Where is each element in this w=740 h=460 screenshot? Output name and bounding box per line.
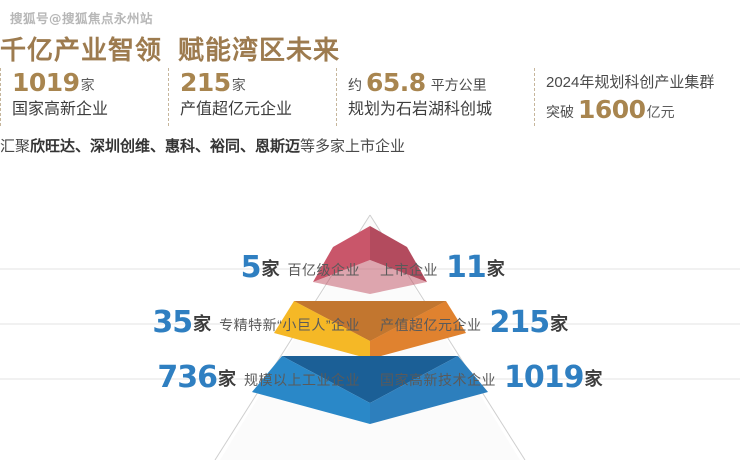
note-prefix: 汇聚 xyxy=(0,138,30,155)
stat-caption: 产值超亿元企业 xyxy=(180,101,292,118)
stat-value: 215 xyxy=(180,68,231,97)
tier2-left-unit: 家 xyxy=(193,314,211,334)
tier1-left-label: 百亿级企业 xyxy=(288,262,361,278)
stat-caption-post: 亿元 xyxy=(647,104,675,120)
page-title-part2: 赋能湾区未来 xyxy=(178,35,340,65)
stat-value: 65.8 xyxy=(366,68,426,97)
tier3-right-label: 国家高新技术企业 xyxy=(380,372,496,388)
tier3-left-label-group: 736家规模以上工业企业 xyxy=(157,360,368,398)
tier2-right-label-group: 产值超亿元企业215家 xyxy=(372,305,568,343)
tier2-left-label-group: 35家专精特新“小巨人”企业 xyxy=(152,305,368,343)
tier1-right-value: 11 xyxy=(446,250,486,285)
pyramid-chart: 5家百亿级企业 35家专精特新“小巨人”企业 736家规模以上工业企业 上市企业… xyxy=(0,160,740,460)
stat-card-area: 约65.8平方公里 规划为石岩湖科创城 xyxy=(336,68,534,126)
stat-card-high-tech: 1019家 国家高新企业 xyxy=(0,68,168,126)
note-suffix: 等多家上市企业 xyxy=(300,138,405,155)
stat-card-over-100m: 215家 产值超亿元企业 xyxy=(168,68,336,126)
tier1-right-label: 上市企业 xyxy=(380,262,438,278)
stat-caption: 国家高新企业 xyxy=(12,101,108,118)
tier3-right-label-group: 国家高新技术企业1019家 xyxy=(372,360,603,398)
stat-caption-pre: 突破 xyxy=(546,104,574,120)
header-band: 千亿产业智领赋能湾区未来 1019家 国家高新企业 215家 产值超亿元企业 xyxy=(0,18,740,158)
page-title: 千亿产业智领赋能湾区未来 xyxy=(0,30,340,67)
note-companies: 欣旺达、深圳创维、惠科、裕同、恩斯迈 xyxy=(30,138,300,155)
stat-unit: 家 xyxy=(232,77,246,93)
tier3-right-unit: 家 xyxy=(585,369,603,389)
stat-card-cluster-2024: 2024年规划科创产业集群 突破1600亿元 xyxy=(534,68,740,126)
tier3-left-label: 规模以上工业企业 xyxy=(244,372,360,388)
stat-unit: 家 xyxy=(81,77,95,93)
tier3-left-unit: 家 xyxy=(218,369,236,389)
stat-value: 1600 xyxy=(578,95,646,124)
stat-prefix: 约 xyxy=(348,77,362,93)
tier2-right-label: 产值超亿元企业 xyxy=(380,317,482,333)
tier1-left-label-group: 5家百亿级企业 xyxy=(241,250,368,288)
stat-suffix: 平方公里 xyxy=(431,77,487,93)
tier2-right-unit: 家 xyxy=(550,314,568,334)
stat-strip: 1019家 国家高新企业 215家 产值超亿元企业 约65.8平方公里 xyxy=(0,68,740,126)
tier3-right-value: 1019 xyxy=(504,360,584,395)
tier1-right-unit: 家 xyxy=(487,259,505,279)
tier1-left-unit: 家 xyxy=(262,259,280,279)
infographic-page: 搜狐号@搜狐焦点永州站 搜狐号@搜狐焦点永州站 千亿产业智领赋能湾区未来 101… xyxy=(0,0,740,460)
pyramid-graphic xyxy=(0,160,740,460)
tier3-left-value: 736 xyxy=(157,360,217,395)
tier1-left-value: 5 xyxy=(241,250,261,285)
tier2-left-label: 专精特新“小巨人”企业 xyxy=(219,317,360,333)
stat-caption: 规划为石岩湖科创城 xyxy=(348,101,492,118)
tier2-left-value: 35 xyxy=(152,305,192,340)
header-note: 汇聚欣旺达、深圳创维、惠科、裕同、恩斯迈等多家上市企业 xyxy=(0,135,405,156)
tier2-right-value: 215 xyxy=(490,305,550,340)
stat-value: 1019 xyxy=(12,68,80,97)
stat-caption-top: 2024年规划科创产业集群 xyxy=(546,74,714,91)
tier1-right-label-group: 上市企业11家 xyxy=(372,250,505,288)
page-title-part1: 千亿产业智领 xyxy=(0,35,162,65)
